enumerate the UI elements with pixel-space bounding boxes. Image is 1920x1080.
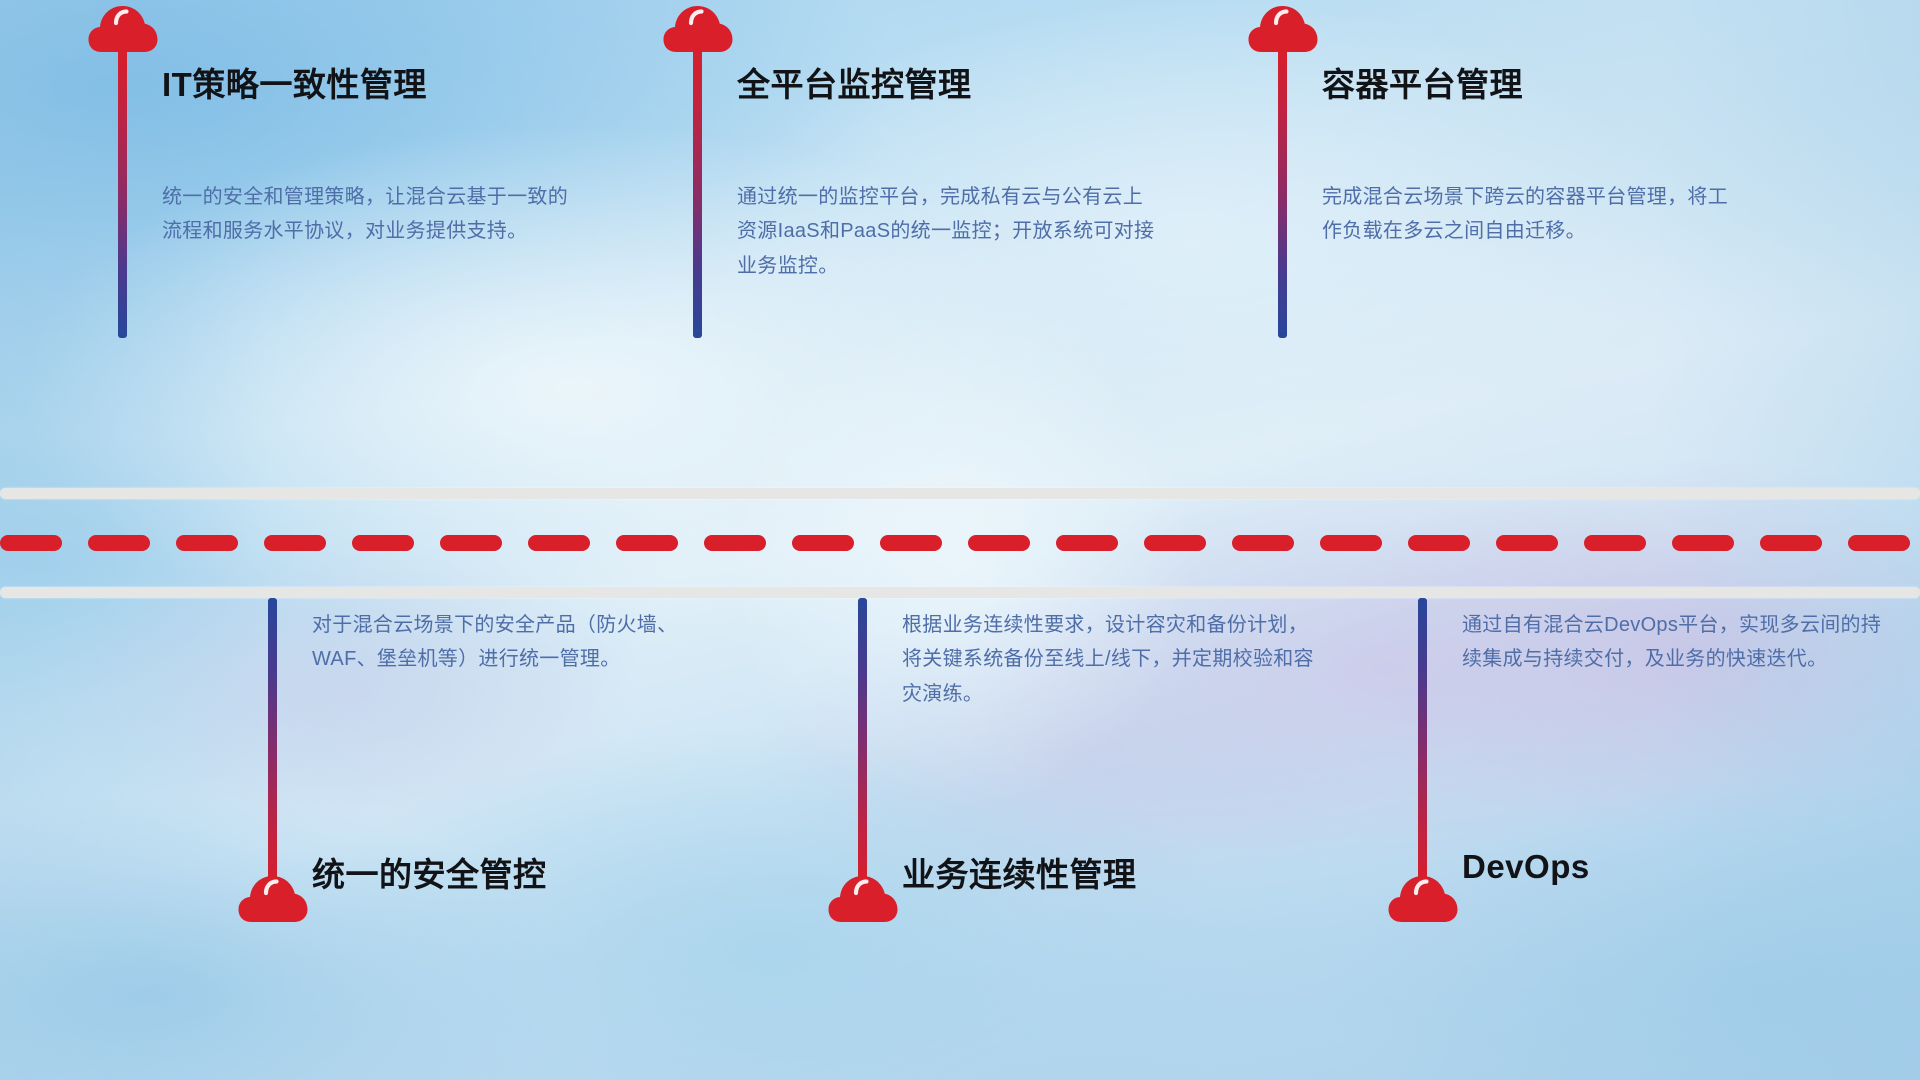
divider-dash bbox=[1584, 535, 1646, 551]
timeline-stem bbox=[858, 598, 867, 888]
cloud-icon bbox=[828, 870, 898, 924]
divider-dash bbox=[264, 535, 326, 551]
divider-dash bbox=[1232, 535, 1294, 551]
divider-dash bbox=[704, 535, 766, 551]
divider-dash bbox=[352, 535, 414, 551]
feature-title: 全平台监控管理 bbox=[737, 58, 972, 106]
divider-dash bbox=[616, 535, 678, 551]
top-feature-row: IT策略一致性管理 统一的安全和管理策略，让混合云基于一致的流程和服务水平协议，… bbox=[0, 0, 1920, 488]
divider-dash bbox=[1056, 535, 1118, 551]
divider-dash bbox=[1496, 535, 1558, 551]
cloud-icon bbox=[1248, 0, 1318, 54]
cloud-icon bbox=[1388, 870, 1458, 924]
feature-description: 完成混合云场景下跨云的容器平台管理，将工作负载在多云之间自由迁移。 bbox=[1322, 180, 1742, 249]
feature-description: 对于混合云场景下的安全产品（防火墙、WAF、堡垒机等）进行统一管理。 bbox=[312, 608, 732, 677]
timeline-stem bbox=[268, 598, 277, 888]
divider-rail-top bbox=[0, 488, 1920, 499]
timeline-stem bbox=[118, 48, 127, 338]
bottom-feature-row: 对于混合云场景下的安全产品（防火墙、WAF、堡垒机等）进行统一管理。 统一的安全… bbox=[0, 598, 1920, 1080]
feature-description: 统一的安全和管理策略，让混合云基于一致的流程和服务水平协议，对业务提供支持。 bbox=[162, 180, 582, 249]
cloud-icon bbox=[88, 0, 158, 54]
divider-dash bbox=[1848, 535, 1910, 551]
feature-description: 通过统一的监控平台，完成私有云与公有云上资源IaaS和PaaS的统一监控；开放系… bbox=[737, 180, 1157, 283]
divider-dash bbox=[1760, 535, 1822, 551]
divider-dash bbox=[0, 535, 62, 551]
cloud-icon bbox=[663, 0, 733, 54]
timeline-stem bbox=[693, 48, 702, 338]
divider-rail-bottom bbox=[0, 587, 1920, 598]
feature-title: DevOps bbox=[1462, 848, 1590, 886]
divider-dash bbox=[968, 535, 1030, 551]
divider-dash bbox=[440, 535, 502, 551]
feature-description: 根据业务连续性要求，设计容灾和备份计划，将关键系统备份至线上/线下，并定期校验和… bbox=[902, 608, 1322, 711]
feature-title: 业务连续性管理 bbox=[902, 848, 1137, 896]
divider-dash bbox=[1408, 535, 1470, 551]
divider-dash bbox=[1672, 535, 1734, 551]
divider-dash bbox=[1144, 535, 1206, 551]
feature-description: 通过自有混合云DevOps平台，实现多云间的持续集成与持续交付，及业务的快速迭代… bbox=[1462, 608, 1882, 677]
feature-title: IT策略一致性管理 bbox=[162, 58, 427, 106]
divider-dash bbox=[528, 535, 590, 551]
center-divider bbox=[0, 488, 1920, 598]
divider-dash bbox=[176, 535, 238, 551]
divider-dash bbox=[880, 535, 942, 551]
divider-dash bbox=[88, 535, 150, 551]
feature-title: 容器平台管理 bbox=[1322, 58, 1523, 106]
divider-dash bbox=[792, 535, 854, 551]
feature-title: 统一的安全管控 bbox=[312, 848, 547, 896]
divider-dash bbox=[1320, 535, 1382, 551]
cloud-icon bbox=[238, 870, 308, 924]
timeline-stem bbox=[1418, 598, 1427, 888]
timeline-stem bbox=[1278, 48, 1287, 338]
divider-dashed-line bbox=[0, 535, 1920, 551]
